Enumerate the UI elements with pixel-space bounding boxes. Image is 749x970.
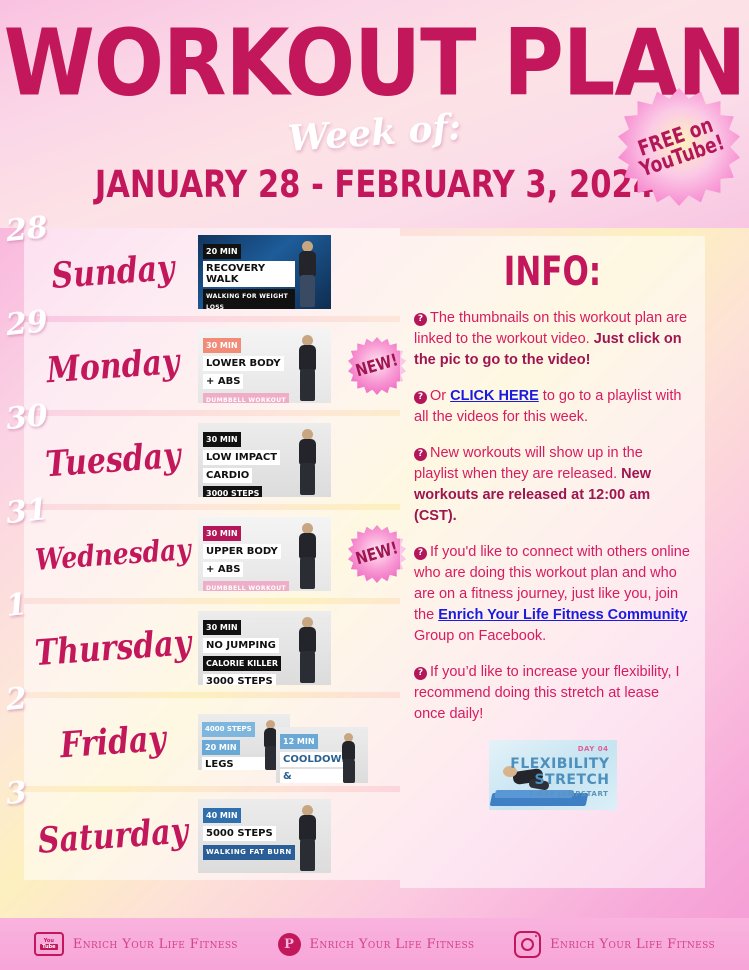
thumbnail-line: CALORIE KILLER <box>203 656 281 671</box>
schedule-column: 28Sunday20 MINRECOVERY WALKWALKING FOR W… <box>0 228 400 918</box>
thumbnail-line: 40 MIN <box>203 808 241 823</box>
thumbnail-line: RECOVERY WALK <box>203 261 295 287</box>
stretch-title-line-2: STRETCH <box>534 772 609 788</box>
thumbnail-line: 5000 STEPS <box>203 826 276 841</box>
day-name: Tuesday <box>27 433 199 486</box>
day-row: 31Wednesday30 MINUPPER BODY+ ABSDUMBBELL… <box>24 510 400 598</box>
thumbnail-text: 30 MINLOW IMPACTCARDIO3000 STEPS <box>203 431 295 497</box>
day-name: Friday <box>27 715 199 768</box>
info-bullet: ?If you'd like to connect with others on… <box>414 542 691 647</box>
day-name: Thursday <box>27 621 199 674</box>
social-label: Enrich Your Life Fitness <box>550 937 715 952</box>
thumbnail-line: 30 MIN <box>203 338 241 353</box>
social-footer: YouTubeEnrich Your Life FitnessPEnrich Y… <box>0 918 749 970</box>
workout-thumbnail[interactable]: 30 MINLOWER BODY+ ABSDUMBBELL WORKOUT <box>198 329 331 403</box>
thumbnail-line: CARDIO <box>203 468 252 483</box>
thumbnail-line: 30 MIN <box>203 432 241 447</box>
new-badge: NEW! <box>348 337 406 395</box>
thumbnail-text: 40 MIN5000 STEPSWALKING FAT BURN <box>203 807 295 862</box>
thumbnail-text: 30 MINLOWER BODY+ ABSDUMBBELL WORKOUT <box>203 337 295 403</box>
thumbnail-line: NO JUMPING <box>203 638 279 653</box>
info-bold-text: Just click on the pic to go to the video… <box>414 331 682 368</box>
info-bullet-list: ?The thumbnails on this workout plan are… <box>414 308 691 725</box>
info-column: INFO: ?The thumbnails on this workout pl… <box>400 228 749 918</box>
person-figure <box>291 333 325 403</box>
person-figure <box>291 803 325 873</box>
info-bullet: ?The thumbnails on this workout plan are… <box>414 308 691 371</box>
poster-header: WORKOUT PLAN Week of: JANUARY 28 - FEBRU… <box>0 0 749 228</box>
thumbnail-line: 20 MIN <box>203 244 241 259</box>
thumbnail-line: 4000 STEPS <box>202 722 255 737</box>
instagram-icon[interactable] <box>514 931 541 958</box>
thumbnail-line: 30 MIN <box>203 620 241 635</box>
thumbnail-line: UPPER BODY <box>203 544 281 559</box>
workout-thumbnail[interactable]: 30 MINLOW IMPACTCARDIO3000 STEPS <box>198 423 331 497</box>
stretch-title-line-1: FLEXIBILITY <box>510 756 609 772</box>
new-badge: NEW! <box>348 525 406 583</box>
thumbnail-group: 30 MINNO JUMPINGCALORIE KILLER3000 STEPS <box>198 611 400 685</box>
day-row: 2Friday4000 STEPS20 MINLEGS FOCUSCARDIO … <box>24 698 400 786</box>
flexibility-stretch-thumbnail[interactable]: DAY 04 FLEXIBILITY STRETCH 7-DAY JUMPSTA… <box>489 740 617 810</box>
thumbnail-line: WALKING FOR WEIGHT LOSS <box>203 289 295 309</box>
person-figure <box>291 615 325 685</box>
person-figure <box>291 427 325 497</box>
day-row: 3Saturday40 MIN5000 STEPSWALKING FAT BUR… <box>24 792 400 880</box>
thumbnail-group: 30 MINLOWER BODY+ ABSDUMBBELL WORKOUTNEW… <box>198 329 400 403</box>
day-number: 1 <box>4 587 28 624</box>
stretch-subtitle: 7-DAY JUMPSTART <box>529 790 609 798</box>
workout-thumbnail[interactable]: 30 MINNO JUMPINGCALORIE KILLER3000 STEPS <box>198 611 331 685</box>
thumbnail-line: DUMBBELL WORKOUT <box>203 581 289 591</box>
day-row: 28Sunday20 MINRECOVERY WALKWALKING FOR W… <box>24 228 400 316</box>
thumbnail-line: WALKING FAT BURN <box>203 845 295 860</box>
question-icon: ? <box>414 547 427 560</box>
workout-thumbnail[interactable]: 20 MINRECOVERY WALKWALKING FOR WEIGHT LO… <box>198 235 331 309</box>
stretch-thumbnail-wrap: DAY 04 FLEXIBILITY STRETCH 7-DAY JUMPSTA… <box>414 740 691 810</box>
thumbnail-line: 30 MIN <box>203 526 241 541</box>
thumbnail-line: 12 MIN <box>280 734 318 749</box>
day-name: Wednesday <box>27 531 199 577</box>
thumbnail-group: 20 MINRECOVERY WALKWALKING FOR WEIGHT LO… <box>198 235 400 309</box>
day-number: 3 <box>4 775 28 812</box>
info-bold-text: New workouts are released at 12:00 am (C… <box>414 466 651 524</box>
social-label: Enrich Your Life Fitness <box>73 937 238 952</box>
thumbnail-line: 20 MIN <box>202 740 240 755</box>
social-link[interactable]: Enrich Your Life Fitness <box>514 931 715 958</box>
question-icon: ? <box>414 667 427 680</box>
day-number: 29 <box>4 304 49 343</box>
day-row: 30Tuesday30 MINLOW IMPACTCARDIO3000 STEP… <box>24 416 400 504</box>
thumbnail-line: 3000 STEPS <box>203 486 262 497</box>
pinterest-icon[interactable]: P <box>278 933 301 956</box>
thumbnail-group: 30 MINUPPER BODY+ ABSDUMBBELL WORKOUTNEW… <box>198 517 400 591</box>
day-number: 2 <box>4 681 28 718</box>
thumbnail-text: 20 MINRECOVERY WALKWALKING FOR WEIGHT LO… <box>203 243 295 309</box>
poster-body: 28Sunday20 MINRECOVERY WALKWALKING FOR W… <box>0 228 749 918</box>
info-link[interactable]: CLICK HERE <box>450 388 539 404</box>
thumbnail-line: + ABS <box>203 562 243 577</box>
person-figure <box>291 521 325 591</box>
thumbnail-group: 30 MINLOW IMPACTCARDIO3000 STEPS <box>198 423 400 497</box>
thumbnail-line: DUMBBELL WORKOUT <box>203 393 289 403</box>
workout-thumbnail[interactable]: 40 MIN5000 STEPSWALKING FAT BURN <box>198 799 331 873</box>
workout-plan-poster: WORKOUT PLAN Week of: JANUARY 28 - FEBRU… <box>0 0 749 970</box>
workout-thumbnail[interactable]: 30 MINUPPER BODY+ ABSDUMBBELL WORKOUT <box>198 517 331 591</box>
workout-thumbnail[interactable]: 12 MINCOOLDOWN& STRETCH <box>276 727 368 783</box>
person-figure <box>291 239 325 309</box>
question-icon: ? <box>414 391 427 404</box>
day-name: Monday <box>27 339 199 392</box>
youtube-icon[interactable]: YouTube <box>34 932 64 956</box>
day-name: Sunday <box>27 245 199 298</box>
free-on-youtube-badge: FREE on YouTube! <box>618 88 740 206</box>
info-link[interactable]: Enrich Your Life Fitness Community <box>438 607 687 623</box>
thumbnail-text: 30 MINUPPER BODY+ ABSDUMBBELL WORKOUT <box>203 525 295 591</box>
day-name: Saturday <box>27 809 199 862</box>
day-number: 31 <box>4 492 49 531</box>
info-card: INFO: ?The thumbnails on this workout pl… <box>400 236 705 888</box>
person-figure <box>336 731 362 783</box>
day-row: 29Monday30 MINLOWER BODY+ ABSDUMBBELL WO… <box>24 322 400 410</box>
info-title: INFO: <box>414 249 691 296</box>
stretch-day-label: DAY 04 <box>578 745 609 753</box>
day-number: 30 <box>4 398 49 437</box>
info-bullet: ?New workouts will show up in the playli… <box>414 443 691 527</box>
day-row: 1Thursday30 MINNO JUMPINGCALORIE KILLER3… <box>24 604 400 692</box>
thumbnail-line: LOW IMPACT <box>203 450 280 465</box>
info-bullet: ?If you’d like to increase your flexibil… <box>414 662 691 725</box>
day-number: 28 <box>4 210 49 249</box>
thumbnail-line: + ABS <box>203 374 243 389</box>
question-icon: ? <box>414 313 427 326</box>
thumbnail-group: 40 MIN5000 STEPSWALKING FAT BURN <box>198 799 400 873</box>
question-icon: ? <box>414 448 427 461</box>
badge-text: FREE on YouTube! <box>602 71 749 222</box>
social-label: Enrich Your Life Fitness <box>310 937 475 952</box>
thumbnail-group: 4000 STEPS20 MINLEGS FOCUSCARDIO BURN12 … <box>198 701 400 783</box>
thumbnail-line: 3000 STEPS <box>203 674 276 685</box>
social-link[interactable]: PEnrich Your Life Fitness <box>278 933 475 956</box>
social-link[interactable]: YouTubeEnrich Your Life Fitness <box>34 932 238 956</box>
info-bullet: ?Or CLICK HERE to go to a playlist with … <box>414 386 691 428</box>
thumbnail-text: 30 MINNO JUMPINGCALORIE KILLER3000 STEPS <box>203 619 295 685</box>
thumbnail-line: LOWER BODY <box>203 356 284 371</box>
